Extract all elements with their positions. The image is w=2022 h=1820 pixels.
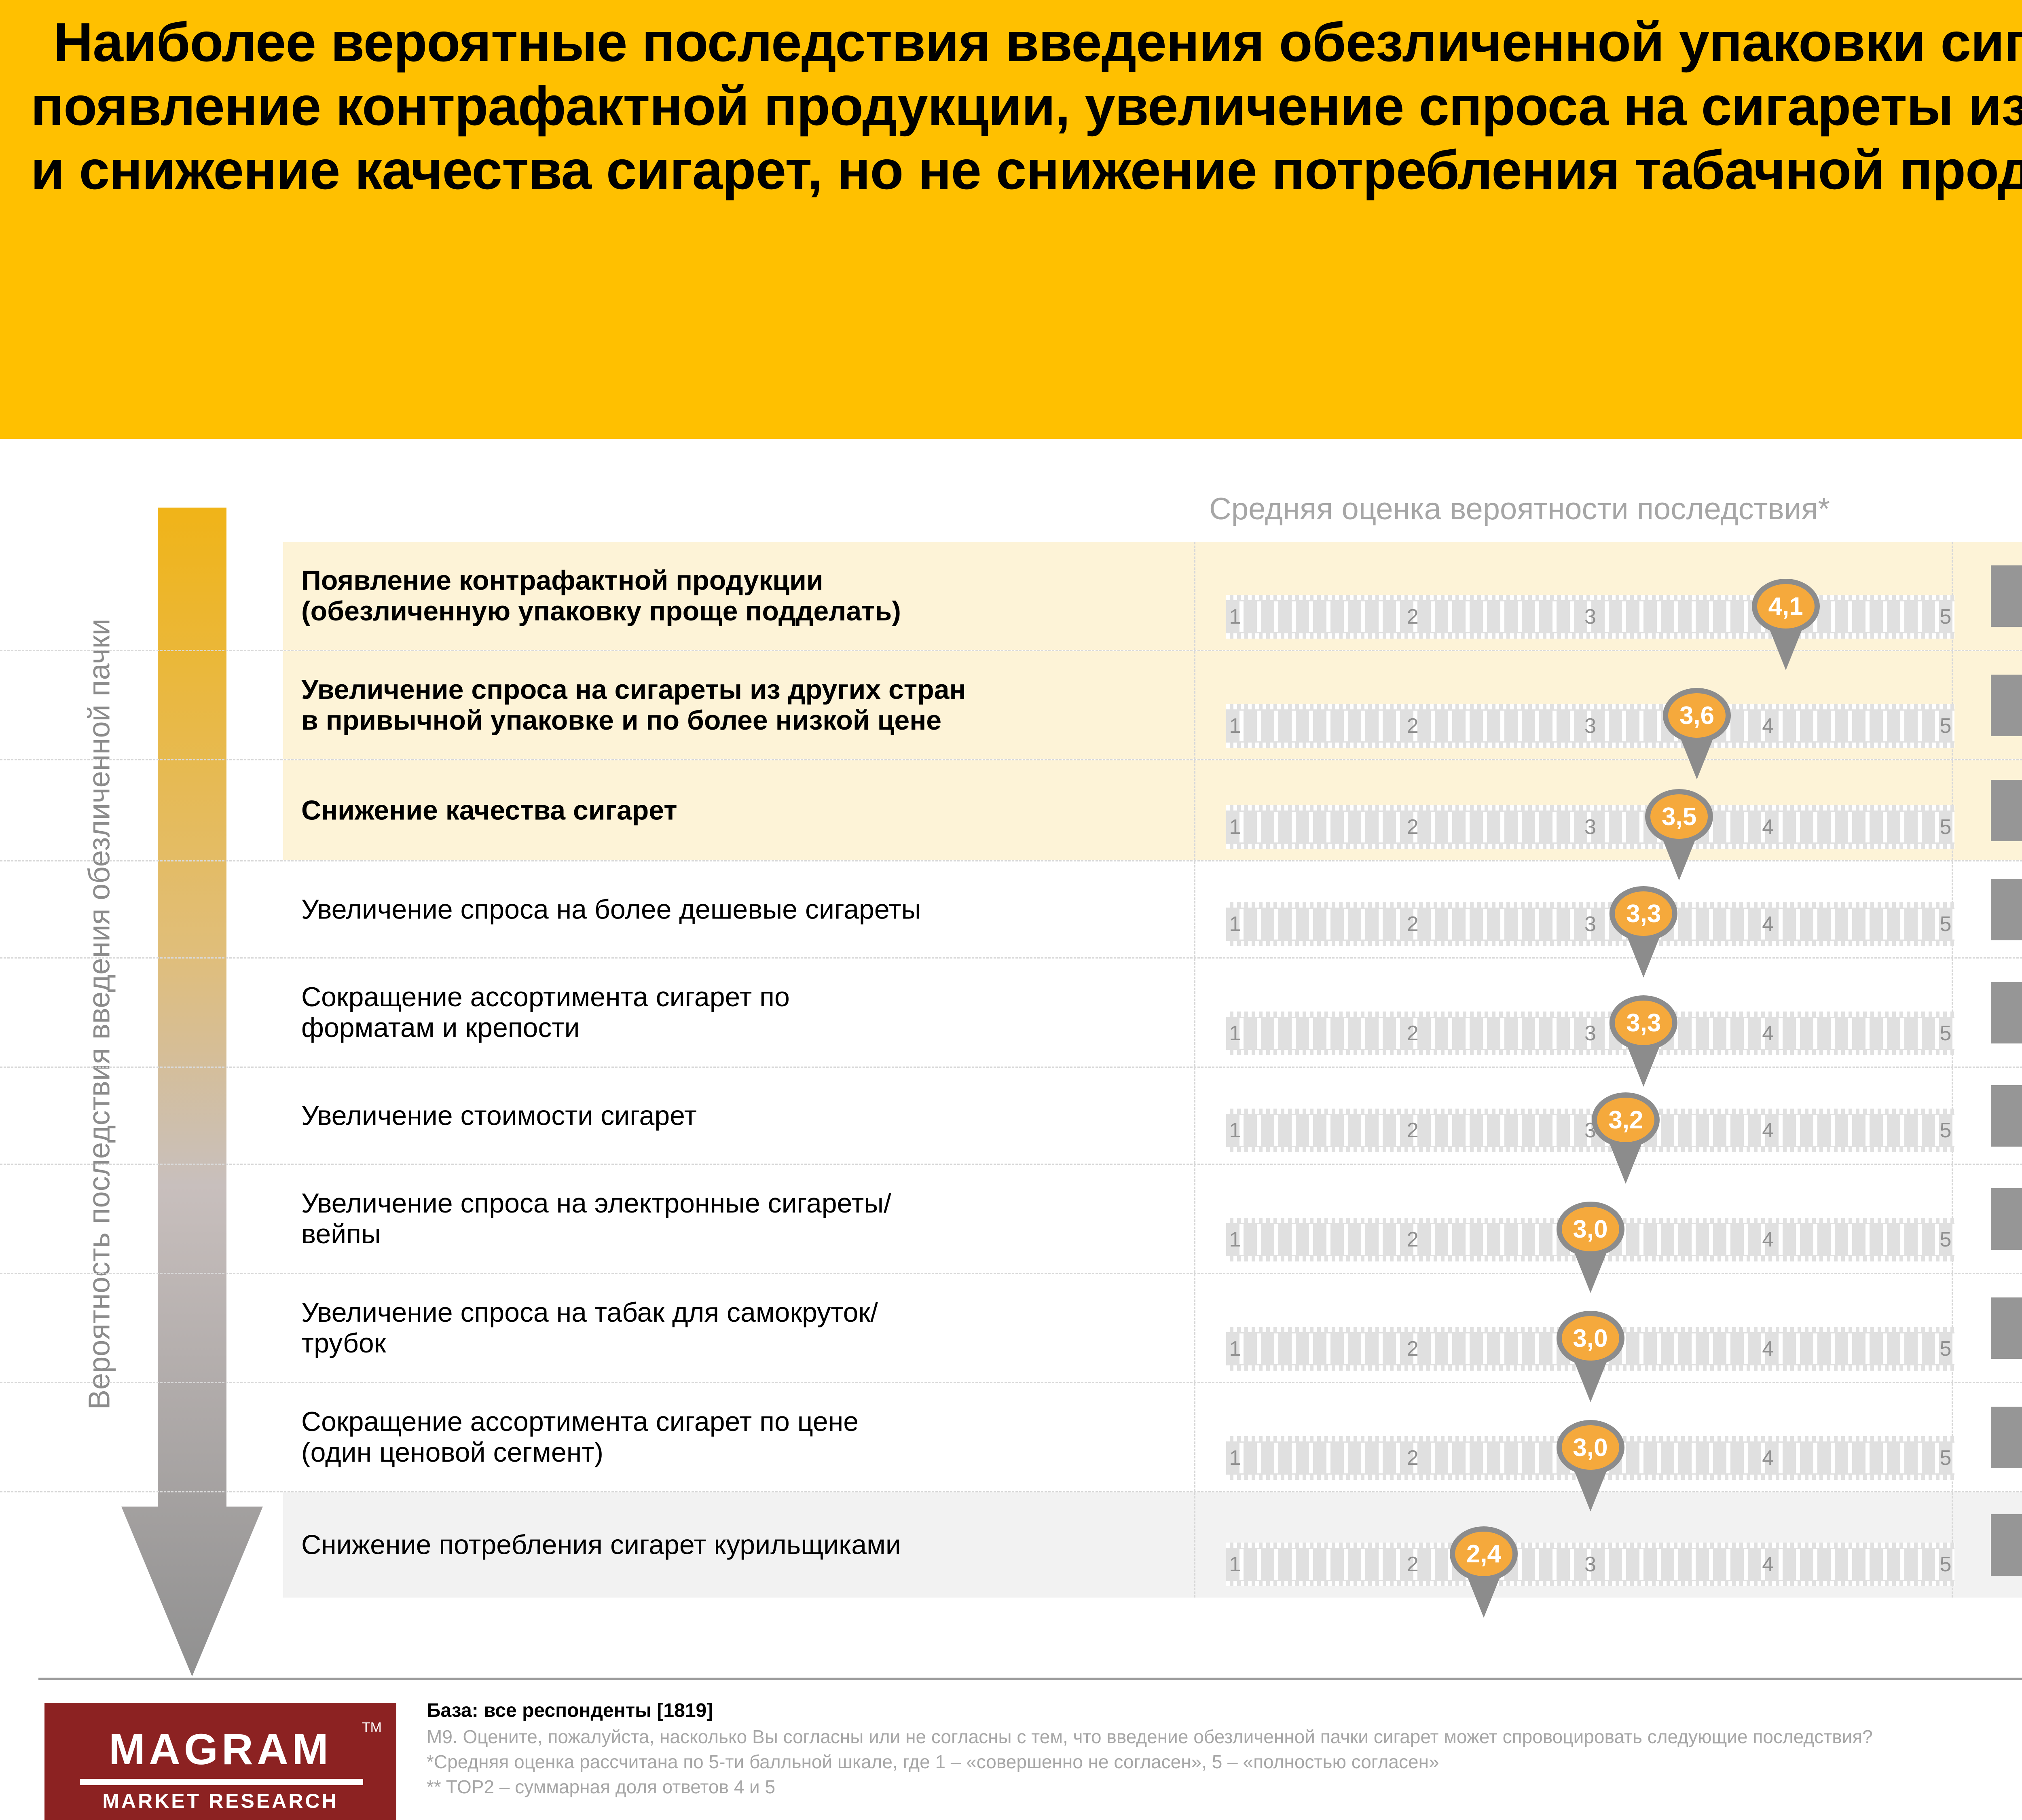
scale-tick-1: 1: [1229, 1021, 1241, 1045]
table-row: Увеличение спроса на сигареты из других …: [0, 651, 2022, 760]
scale-tick-2: 2: [1407, 912, 1419, 936]
footnote-mean-scale: *Средняя оценка рассчитана по 5-ти балль…: [427, 1749, 2022, 1774]
row-label-line2: (обезличенную упаковку проще подделать): [301, 596, 1191, 627]
column-divider: [1194, 959, 1195, 1067]
scale-tick-3: 3: [1584, 1021, 1596, 1045]
row-label: Сокращение ассортимента сигарет поформат…: [301, 982, 1191, 1044]
scale-tick-4: 4: [1762, 1227, 1774, 1252]
scale-tick-2: 2: [1407, 1118, 1419, 1143]
rating-scale-ruler: 12345: [1226, 1109, 1954, 1152]
scale-tick-4: 4: [1762, 815, 1774, 839]
footnote-base: База: все респонденты [1819]: [427, 1698, 2022, 1724]
ruler-ticks-top: [1226, 595, 1954, 600]
scale-tick-2: 2: [1407, 714, 1419, 738]
row-label-line2: форматам и крепости: [301, 1013, 1191, 1044]
scale-tick-3: 3: [1584, 714, 1596, 738]
top2-bar-remainder: [1991, 1085, 2022, 1147]
rating-scale-ruler: 12345: [1226, 1012, 1954, 1055]
ruler-ticks-top: [1226, 1109, 1954, 1114]
scale-tick-5: 5: [1940, 1021, 1952, 1045]
top2-bar-remainder: [1991, 1297, 2022, 1359]
chart-rows: Появление контрафактной продукции(обезли…: [0, 542, 2022, 1598]
ruler-ticks-bottom: [1226, 1581, 1954, 1586]
logo-rule: [80, 1779, 363, 1785]
column-divider: [1194, 1274, 1195, 1382]
mean-score-value: 3,0: [1557, 1311, 1624, 1366]
mean-score-value: 3,3: [1610, 886, 1677, 941]
top2-bar-remainder: [1991, 565, 2022, 627]
scale-tick-2: 2: [1407, 1446, 1419, 1470]
rating-scale-ruler: 12345: [1226, 595, 1954, 639]
top2-bar: 78%: [1991, 565, 2022, 627]
mean-score-marker: 3,3: [1610, 886, 1677, 941]
scale-tick-2: 2: [1407, 605, 1419, 629]
scale-tick-1: 1: [1229, 1446, 1241, 1470]
top2-bar-remainder: [1991, 1407, 2022, 1468]
scale-tick-3: 3: [1584, 912, 1596, 936]
column-header-mean: Средняя оценка вероятности последствия*: [1209, 491, 1830, 527]
row-label-line1: Сокращение ассортимента сигарет по цене: [301, 1406, 1191, 1437]
top2-bar: 18%: [1991, 1514, 2022, 1576]
scale-tick-4: 4: [1762, 1446, 1774, 1470]
scale-tick-1: 1: [1229, 1227, 1241, 1252]
scale-tick-2: 2: [1407, 1552, 1419, 1577]
ruler-ticks-bottom: [1226, 1147, 1954, 1152]
column-divider: [1194, 861, 1195, 957]
table-row: Сокращение ассортимента сигарет поформат…: [0, 959, 2022, 1068]
scale-tick-3: 3: [1584, 1552, 1596, 1577]
row-label: Снижение качества сигарет: [301, 795, 1191, 826]
row-label-line1: Снижение качества сигарет: [301, 795, 1191, 826]
ruler-ticks-top: [1226, 805, 1954, 811]
mean-score-value: 3,0: [1557, 1420, 1624, 1475]
footnote-question: M9. Оцените, пожалуйста, насколько Вы со…: [427, 1724, 2022, 1749]
scale-tick-5: 5: [1940, 1118, 1952, 1143]
row-label: Увеличение спроса на сигареты из других …: [301, 674, 1191, 736]
top2-bar: 57%: [1991, 780, 2022, 841]
mean-score-marker: 4,1: [1752, 579, 1820, 634]
row-label-line1: Увеличение стоимости сигарет: [301, 1100, 1191, 1131]
ruler-ticks-bottom: [1226, 633, 1954, 639]
row-label: Увеличение спроса на более дешевые сигар…: [301, 894, 1191, 925]
scale-tick-2: 2: [1407, 815, 1419, 839]
scale-tick-3: 3: [1584, 605, 1596, 629]
mean-score-marker: 3,0: [1557, 1420, 1624, 1475]
column-divider: [1194, 1383, 1195, 1491]
row-label: Увеличение стоимости сигарет: [301, 1100, 1191, 1131]
top2-bar-remainder: [1991, 879, 2022, 940]
ruler-ticks-top: [1226, 1543, 1954, 1548]
rating-scale-ruler: 12345: [1226, 805, 1954, 849]
table-row: Появление контрафактной продукции(обезли…: [0, 542, 2022, 651]
row-label-line1: Увеличение спроса на табак для самокруто…: [301, 1297, 1191, 1328]
scale-tick-1: 1: [1229, 912, 1241, 936]
top2-bar-remainder: [1991, 1514, 2022, 1576]
footnotes: База: все респонденты [1819] M9. Оцените…: [427, 1698, 2022, 1799]
row-label: Сокращение ассортимента сигарет по цене(…: [301, 1406, 1191, 1469]
mean-score-value: 3,5: [1645, 789, 1713, 844]
mean-score-marker: 3,6: [1663, 688, 1731, 743]
top2-bar: 36%: [1991, 1407, 2022, 1468]
column-divider: [1194, 1165, 1195, 1273]
top2-bar: 47%: [1991, 879, 2022, 940]
scale-tick-5: 5: [1940, 912, 1952, 936]
row-label-line1: Увеличение спроса на сигареты из других …: [301, 674, 1191, 705]
trademark-icon: TM: [362, 1720, 382, 1735]
top2-bar: 40%: [1991, 1085, 2022, 1147]
row-label-line2: трубок: [301, 1328, 1191, 1359]
scale-tick-4: 4: [1762, 1337, 1774, 1361]
row-label-line1: Увеличение спроса на более дешевые сигар…: [301, 894, 1191, 925]
column-divider: [1194, 542, 1195, 650]
scale-tick-1: 1: [1229, 1118, 1241, 1143]
table-row: Увеличение стоимости сигарет123453,240%: [0, 1068, 2022, 1165]
scale-tick-1: 1: [1229, 714, 1241, 738]
top2-bar-remainder: [1991, 780, 2022, 841]
mean-score-value: 3,6: [1663, 688, 1731, 743]
row-label: Увеличение спроса на табак для самокруто…: [301, 1297, 1191, 1359]
scale-tick-1: 1: [1229, 1337, 1241, 1361]
mean-score-marker: 3,3: [1610, 995, 1677, 1050]
top2-bar-remainder: [1991, 1188, 2022, 1250]
mean-score-marker: 3,2: [1592, 1092, 1660, 1147]
ruler-ticks-bottom: [1226, 1050, 1954, 1055]
row-label: Увеличение спроса на электронные сигарет…: [301, 1188, 1191, 1250]
table-row: Увеличение спроса на более дешевые сигар…: [0, 861, 2022, 959]
ruler-ticks-top: [1226, 902, 1954, 908]
mean-score-marker: 3,5: [1645, 789, 1713, 844]
top2-bar: 36%: [1991, 1297, 2022, 1359]
mean-score-value: 3,3: [1610, 995, 1677, 1050]
row-label-line1: Появление контрафактной продукции: [301, 565, 1191, 596]
top2-bar-remainder: [1991, 675, 2022, 736]
slide-title-banner: Наиболее вероятные последствия введения …: [0, 0, 2022, 439]
ruler-ticks-bottom: [1226, 941, 1954, 946]
scale-tick-5: 5: [1940, 1446, 1952, 1470]
scale-tick-2: 2: [1407, 1227, 1419, 1252]
scale-tick-2: 2: [1407, 1337, 1419, 1361]
scale-tick-5: 5: [1940, 1337, 1952, 1361]
row-label: Появление контрафактной продукции(обезли…: [301, 565, 1191, 627]
mean-score-marker: 2,4: [1450, 1526, 1518, 1581]
footnote-top2: ** TOP2 – суммарная доля ответов 4 и 5: [427, 1774, 2022, 1799]
scale-tick-4: 4: [1762, 714, 1774, 738]
scale-tick-5: 5: [1940, 714, 1952, 738]
row-label-line2: (один ценовой сегмент): [301, 1437, 1191, 1469]
top2-bar: 44%: [1991, 982, 2022, 1043]
row-label: Снижение потребления сигарет курильщикам…: [301, 1530, 1191, 1561]
scale-tick-5: 5: [1940, 1552, 1952, 1577]
footer-divider: [38, 1678, 2022, 1680]
mean-score-marker: 3,0: [1557, 1311, 1624, 1366]
scale-tick-4: 4: [1762, 1118, 1774, 1143]
mean-score-value: 3,2: [1592, 1092, 1660, 1147]
column-divider: [1194, 760, 1195, 860]
scale-tick-4: 4: [1762, 1552, 1774, 1577]
scale-tick-5: 5: [1940, 815, 1952, 839]
table-row: Снижение потребления сигарет курильщикам…: [0, 1492, 2022, 1598]
top2-bar: 36%: [1991, 1188, 2022, 1250]
ruler-ticks-top: [1226, 704, 1954, 709]
scale-tick-2: 2: [1407, 1021, 1419, 1045]
logo-tagline: MARKET RESEARCH: [44, 1789, 396, 1813]
mean-score-value: 4,1: [1752, 579, 1820, 634]
table-row: Сокращение ассортимента сигарет по цене(…: [0, 1383, 2022, 1492]
top2-bar: 61%: [1991, 675, 2022, 736]
rating-scale-ruler: 12345: [1226, 1543, 1954, 1586]
column-divider: [1194, 1068, 1195, 1164]
scale-tick-1: 1: [1229, 1552, 1241, 1577]
scale-tick-5: 5: [1940, 1227, 1952, 1252]
ruler-ticks-top: [1226, 1012, 1954, 1017]
row-label-line1: Увеличение спроса на электронные сигарет…: [301, 1188, 1191, 1219]
table-row: Снижение качества сигарет123453,557%: [0, 760, 2022, 861]
scale-tick-3: 3: [1584, 815, 1596, 839]
page-title: Наиболее вероятные последствия введения …: [31, 11, 2022, 202]
mean-score-value: 3,0: [1557, 1202, 1624, 1257]
ruler-ticks-bottom: [1226, 844, 1954, 849]
ruler-ticks-bottom: [1226, 743, 1954, 748]
table-row: Увеличение спроса на электронные сигарет…: [0, 1165, 2022, 1274]
scale-tick-1: 1: [1229, 605, 1241, 629]
column-divider: [1194, 1492, 1195, 1598]
column-divider: [1194, 651, 1195, 759]
scale-tick-1: 1: [1229, 815, 1241, 839]
scale-tick-4: 4: [1762, 1021, 1774, 1045]
scale-tick-4: 4: [1762, 912, 1774, 936]
table-row: Увеличение спроса на табак для самокруто…: [0, 1274, 2022, 1383]
mean-score-marker: 3,0: [1557, 1202, 1624, 1257]
top2-bar-remainder: [1991, 982, 2022, 1043]
rating-scale-ruler: 12345: [1226, 704, 1954, 748]
logo-wordmark: MAGRAM: [44, 1724, 396, 1774]
row-label-line2: в привычной упаковке и по более низкой ц…: [301, 705, 1191, 736]
row-label-line1: Сокращение ассортимента сигарет по: [301, 982, 1191, 1013]
rating-scale-ruler: 12345: [1226, 902, 1954, 946]
mean-score-value: 2,4: [1450, 1526, 1518, 1581]
scale-tick-5: 5: [1940, 605, 1952, 629]
magram-logo: MAGRAM TM MARKET RESEARCH: [44, 1703, 396, 1820]
row-label-line1: Снижение потребления сигарет курильщикам…: [301, 1530, 1191, 1561]
row-label-line2: вейпы: [301, 1219, 1191, 1250]
